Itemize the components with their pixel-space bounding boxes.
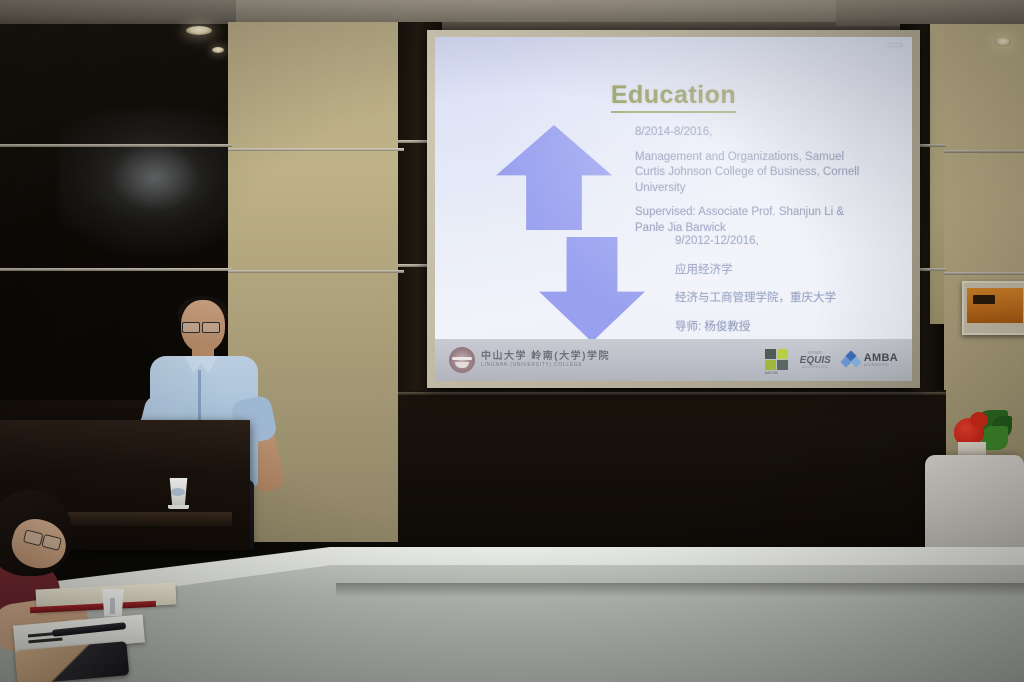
- picture-artwork: [967, 288, 1023, 323]
- lingnan-college-logo: 中山大学 岭南(大学)学院 LINGNAN (UNIVERSITY) COLLE…: [449, 347, 610, 373]
- aacsb-square: [777, 349, 788, 359]
- aacsb-square: [777, 360, 788, 370]
- entry-program: Management and Organizations, Samuel Cur…: [635, 150, 870, 197]
- amba-logo-icon: AMBA ACCREDITED: [842, 352, 898, 369]
- accreditation-logos: AACSB EFMD EQUIS ACCREDITED AMBA ACC: [765, 349, 898, 371]
- lingnan-logo-text: 中山大学 岭南(大学)学院 LINGNAN (UNIVERSITY) COLLE…: [481, 352, 610, 368]
- wall-light-hotspot: [110, 142, 200, 212]
- equis-sublabel: ACCREDITED: [802, 366, 829, 370]
- amba-diamond-icon: [842, 352, 861, 369]
- aacsb-label: AACSB: [765, 371, 778, 375]
- university-seal-icon: [449, 347, 475, 373]
- aacsb-square: [765, 349, 776, 359]
- equis-logo-icon: EFMD EQUIS ACCREDITED: [800, 351, 831, 369]
- slide-footer: 中山大学 岭南(大学)学院 LINGNAN (UNIVERSITY) COLLE…: [435, 339, 912, 381]
- wall-trim-strip: [228, 148, 404, 151]
- arrow-down-icon: [539, 237, 645, 342]
- paper-cup-base: [168, 505, 189, 509]
- ceiling-right-section: [836, 0, 1024, 26]
- wall-trim-strip: [944, 150, 1024, 153]
- aacsb-square: [765, 360, 776, 370]
- education-entry-english: 8/2014-8/2016, Management and Organizati…: [635, 125, 870, 236]
- slide-title: Education: [435, 81, 912, 110]
- amba-logo-text: AMBA ACCREDITED: [864, 353, 898, 367]
- conference-table: [0, 543, 1024, 682]
- entry-date: 9/2012-12/2016,: [675, 234, 890, 250]
- framed-picture: [962, 281, 1024, 335]
- wall-trim-strip: [944, 272, 1024, 275]
- paper-text-line: [28, 637, 62, 643]
- university-name-en: LINGNAN (UNIVERSITY) COLLEGE: [481, 363, 610, 368]
- presentation-slide: Education 8/2014-8/2016, Management and …: [435, 37, 912, 381]
- slide-title-text: Education: [611, 81, 736, 113]
- ceiling-light-icon: [995, 38, 1011, 46]
- wall-trim-strip: [398, 392, 946, 395]
- entry-supervisor: Supervised: Associate Prof. Shanjun Li &…: [635, 205, 870, 236]
- slide-watermark: [888, 43, 902, 47]
- plant-red-flower: [970, 412, 988, 428]
- dark-wall-below-screen: [398, 390, 946, 550]
- wall-trim-strip: [228, 270, 404, 273]
- ceiling-soffit: [236, 0, 836, 22]
- cup-print: [110, 598, 115, 614]
- ceiling-light-icon: [186, 26, 212, 35]
- wall-trim-strip: [0, 144, 232, 147]
- amba-sublabel: ACCREDITED: [864, 364, 898, 367]
- entry-date: 8/2014-8/2016,: [635, 125, 870, 141]
- arrow-up-icon: [496, 125, 612, 230]
- aacsb-logo-icon: AACSB: [765, 349, 789, 371]
- entry-major: 应用经济学: [675, 263, 890, 279]
- projection-screen: Education 8/2014-8/2016, Management and …: [427, 30, 920, 388]
- presenter-glasses-icon: [182, 322, 224, 331]
- entry-school: 经济与工商管理学院，重庆大学: [675, 291, 890, 307]
- table-shadow: [336, 583, 1024, 597]
- beige-wall-panel-right: [944, 24, 1024, 464]
- entry-advisor: 导师: 杨俊教授: [675, 320, 890, 336]
- equis-label: EQUIS: [800, 356, 831, 366]
- education-entry-chinese: 9/2012-12/2016, 应用经济学 经济与工商管理学院，重庆大学 导师:…: [675, 234, 890, 335]
- ceiling-light-icon: [212, 47, 224, 53]
- wall-trim-strip: [0, 268, 232, 271]
- room-scene: Education 8/2014-8/2016, Management and …: [0, 0, 1024, 682]
